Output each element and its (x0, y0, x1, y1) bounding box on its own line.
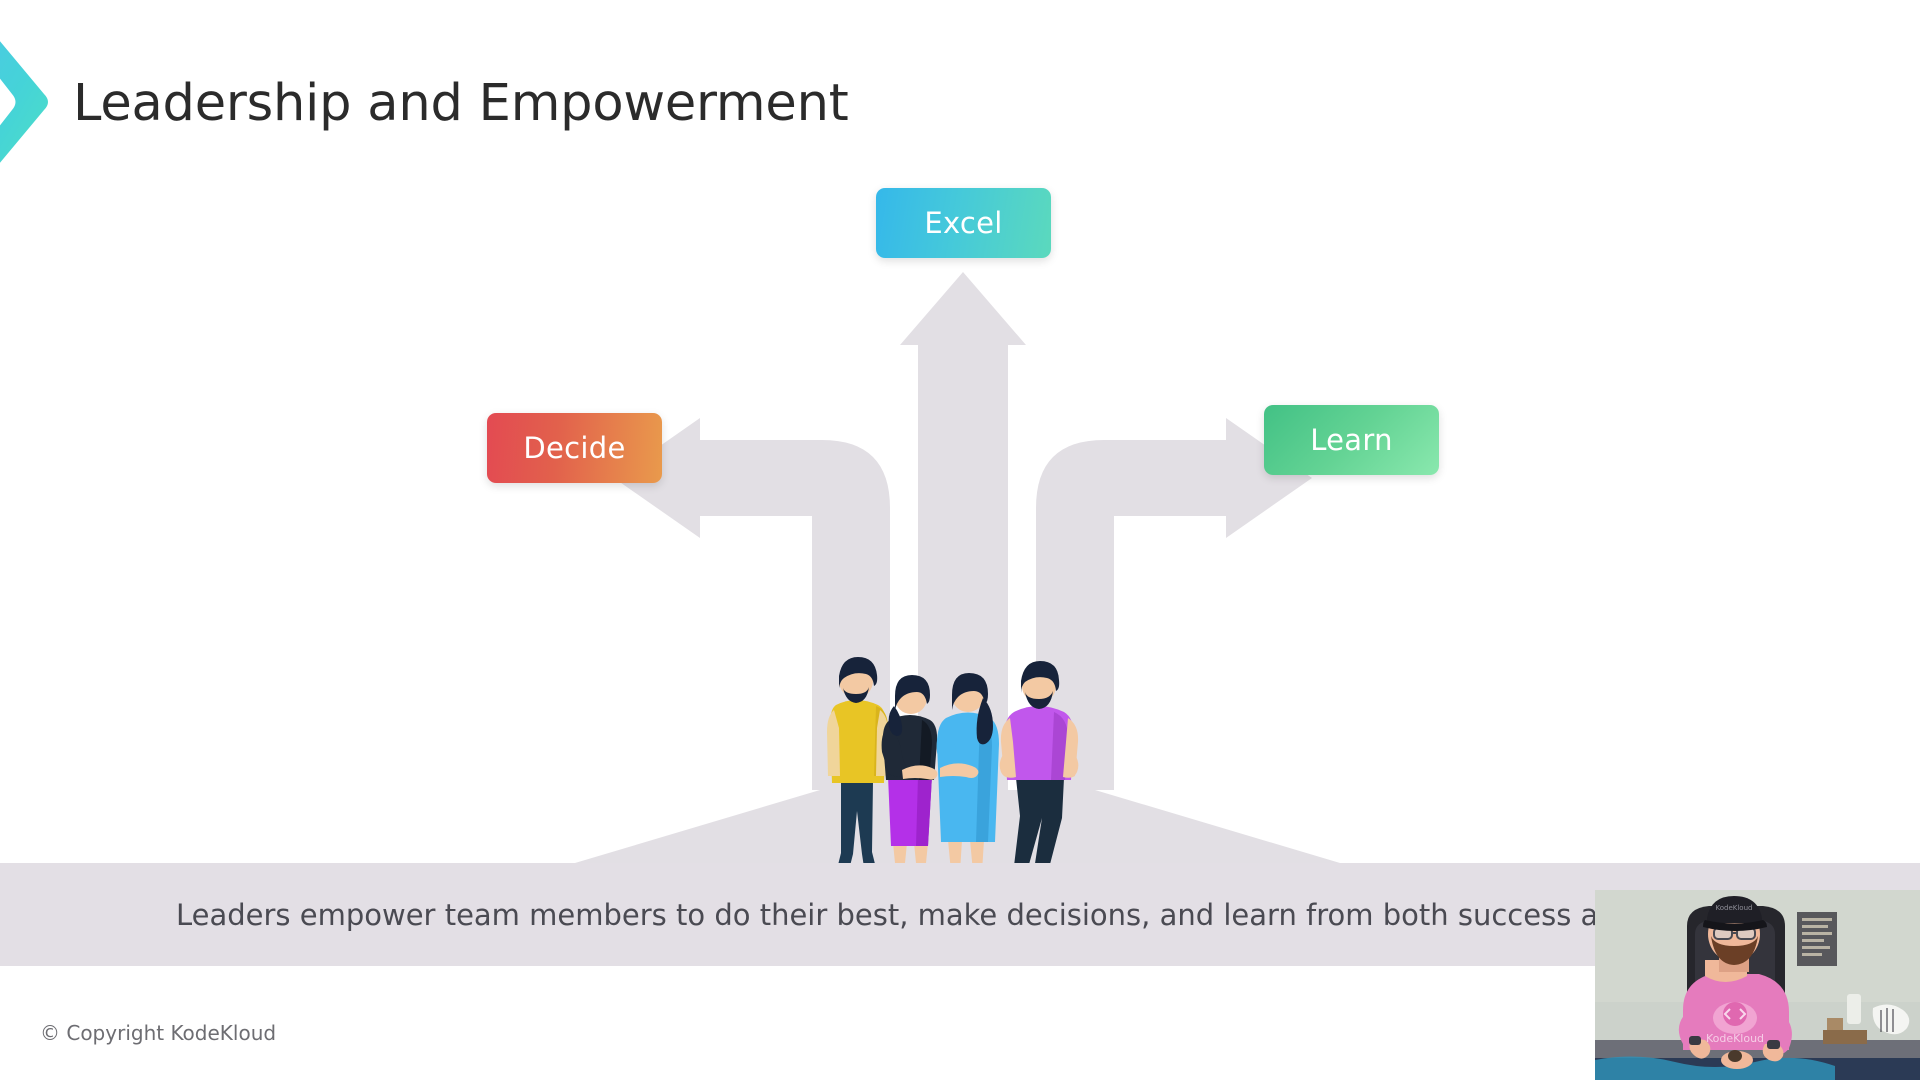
team-of-four-people-illustration (810, 648, 1110, 898)
person-magenta-shirt (1000, 661, 1079, 881)
person-yellow-shirt (827, 657, 888, 881)
caption-text: Leaders empower team members to do their… (176, 898, 1617, 932)
label-box-learn-text: Learn (1310, 423, 1393, 457)
label-box-excel[interactable]: Excel (876, 188, 1051, 258)
svg-text:KodeKloud: KodeKloud (1716, 904, 1753, 912)
label-box-excel-text: Excel (924, 206, 1002, 240)
label-box-decide[interactable]: Decide (487, 413, 662, 483)
presentation-slide: Leadership and Empowerment Excel Decide … (0, 0, 1920, 1080)
label-box-learn[interactable]: Learn (1264, 405, 1439, 475)
copyright-notice: © Copyright KodeKloud (40, 1021, 276, 1045)
person-purple-skirt (882, 675, 938, 885)
presenter-webcam-overlay[interactable]: KodeKloud KodeKloud (1595, 890, 1920, 1080)
label-box-decide-text: Decide (523, 431, 625, 465)
person-blue-dress (937, 673, 999, 884)
svg-text:KodeKloud: KodeKloud (1706, 1032, 1764, 1045)
presenter-webcam-video: KodeKloud KodeKloud (1595, 890, 1920, 1080)
